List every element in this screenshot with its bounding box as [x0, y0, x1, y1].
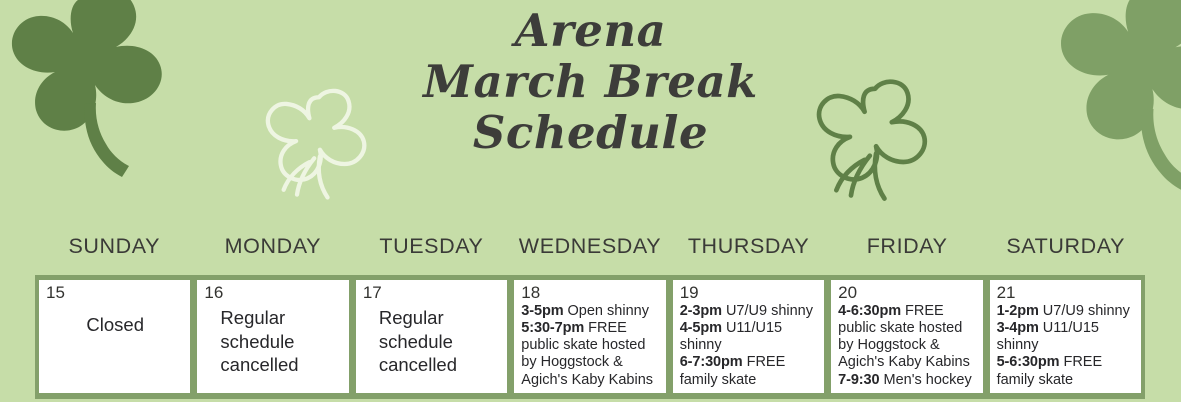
weekday-header-row: SUNDAYMONDAYTUESDAYWEDNESDAYTHURSDAYFRID…	[35, 234, 1145, 259]
title-line-3: Schedule	[0, 110, 1181, 156]
event-description: Open shinny	[564, 303, 649, 319]
schedule-event: 5-6:30pm FREE family skate	[997, 354, 1135, 388]
weekday-header-monday: MONDAY	[194, 234, 353, 259]
weekday-header-sunday: SUNDAY	[35, 234, 194, 259]
event-time: 4-5pm	[680, 320, 722, 336]
poster-canvas: Arena March Break Schedule SUNDAYMONDAYT…	[0, 0, 1181, 402]
calendar-day-cell: 183-5pm Open shinny5:30-7pm FREE public …	[514, 280, 665, 393]
event-time: 6-7:30pm	[680, 354, 743, 370]
weekday-header-friday: FRIDAY	[828, 234, 987, 259]
event-description: U7/U9 shinny	[1039, 303, 1130, 319]
calendar-day-cell: 211-2pm U7/U9 shinny3-4pm U11/U15 shinny…	[990, 280, 1141, 393]
weekday-header-saturday: SATURDAY	[986, 234, 1145, 259]
date-number: 15	[46, 284, 184, 302]
date-number: 18	[521, 284, 659, 302]
title-line-1: Arena	[0, 8, 1181, 54]
date-number: 19	[680, 284, 818, 302]
schedule-event: 4-6:30pm FREE public skate hosted by Hog…	[838, 303, 976, 372]
calendar-grid: 15Closed16Regular schedule cancelled17Re…	[35, 275, 1145, 399]
event-time: 2-3pm	[680, 303, 722, 319]
event-time: 1-2pm	[997, 303, 1039, 319]
schedule-event: 2-3pm U7/U9 shinny	[680, 303, 818, 320]
weekday-header-thursday: THURSDAY	[669, 234, 828, 259]
date-number: 21	[997, 284, 1135, 302]
event-time: 4-6:30pm	[838, 303, 901, 319]
title-line-2: March Break	[0, 59, 1181, 105]
day-cell-body: 2-3pm U7/U9 shinny4-5pm U11/U15 shinny6-…	[680, 303, 818, 389]
schedule-event: 5:30-7pm FREE public skate hosted by Hog…	[521, 320, 659, 389]
schedule-event: 3-5pm Open shinny	[521, 303, 659, 320]
poster-title: Arena March Break Schedule	[0, 8, 1181, 156]
calendar-day-cell: 204-6:30pm FREE public skate hosted by H…	[831, 280, 982, 393]
date-number: 16	[204, 284, 342, 302]
calendar-day-cell: 15Closed	[39, 280, 190, 393]
event-description: U7/U9 shinny	[722, 303, 813, 319]
event-time: 3-5pm	[521, 303, 563, 319]
event-description: Men's hockey	[879, 372, 971, 388]
schedule-event: 1-2pm U7/U9 shinny	[997, 303, 1135, 320]
weekday-header-tuesday: TUESDAY	[352, 234, 511, 259]
day-cell-body: Closed	[46, 313, 184, 337]
schedule-event: 6-7:30pm FREE family skate	[680, 354, 818, 388]
weekday-header-wednesday: WEDNESDAY	[511, 234, 670, 259]
day-cell-body: Regular schedule cancelled	[363, 306, 501, 377]
schedule-event: 7-9:30 Men's hockey	[838, 372, 976, 389]
date-number: 17	[363, 284, 501, 302]
event-time: 5:30-7pm	[521, 320, 584, 336]
day-cell-body: 4-6:30pm FREE public skate hosted by Hog…	[838, 303, 976, 389]
day-cell-body: Regular schedule cancelled	[204, 306, 342, 377]
event-time: 5-6:30pm	[997, 354, 1060, 370]
schedule-event: 4-5pm U11/U15 shinny	[680, 320, 818, 354]
calendar-day-cell: 16Regular schedule cancelled	[197, 280, 348, 393]
date-number: 20	[838, 284, 976, 302]
day-cell-body: 3-5pm Open shinny5:30-7pm FREE public sk…	[521, 303, 659, 389]
event-time: 3-4pm	[997, 320, 1039, 336]
calendar-day-cell: 192-3pm U7/U9 shinny4-5pm U11/U15 shinny…	[673, 280, 824, 393]
schedule-event: 3-4pm U11/U15 shinny	[997, 320, 1135, 354]
day-cell-body: 1-2pm U7/U9 shinny3-4pm U11/U15 shinny5-…	[997, 303, 1135, 389]
event-time: 7-9:30	[838, 372, 879, 388]
calendar-day-cell: 17Regular schedule cancelled	[356, 280, 507, 393]
